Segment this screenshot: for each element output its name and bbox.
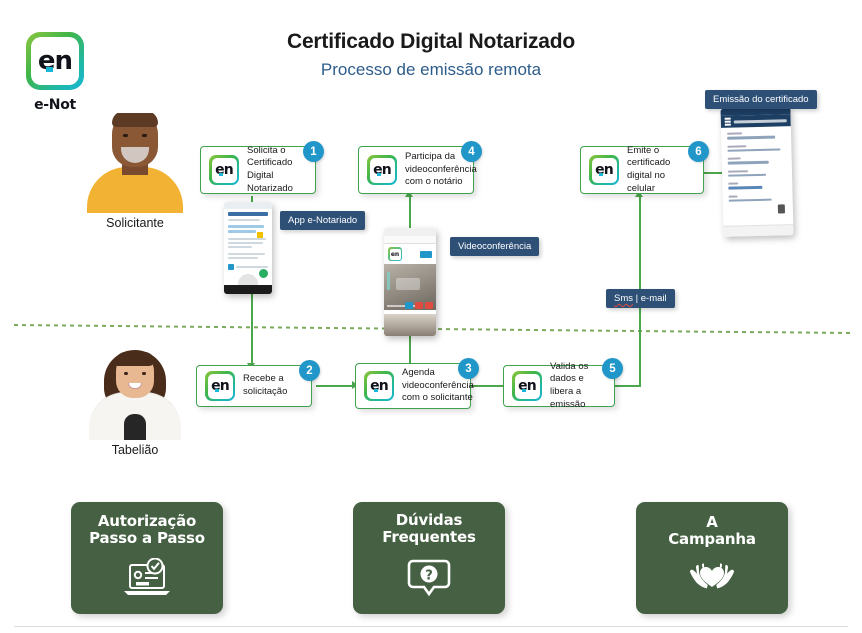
- callout-email-word: | e-mail: [633, 293, 667, 304]
- enot-logo-icon: en: [205, 371, 235, 401]
- step-badge-2: 2: [299, 360, 320, 381]
- step-5-text: Valida os dados e libera a emissão: [550, 361, 606, 411]
- enot-logo-icon: en: [364, 371, 394, 401]
- enot-logo-icon: en: [367, 155, 397, 185]
- cta-autorizacao-passo-a-passo[interactable]: Autorização Passo a Passo: [71, 502, 223, 614]
- tabeliao-photo: [87, 340, 183, 440]
- phone-mockup-app: [224, 202, 272, 294]
- infographic-canvas: en e-Not Certificado Digital Notarizado …: [0, 0, 862, 633]
- cta-duvidas-frequentes[interactable]: Dúvidas Frequentes ?: [353, 502, 505, 614]
- enot-logo-icon: en: [512, 371, 542, 401]
- step-box-6[interactable]: en Emite o certificado digital no celula…: [580, 146, 704, 194]
- page-title: Certificado Digital Notarizado: [0, 30, 862, 54]
- step-1-text: Solicita o Certificado Digital Notarizad…: [247, 145, 307, 195]
- tabeliao-label: Tabelião: [85, 443, 185, 457]
- hands-heart-icon: [683, 559, 741, 602]
- cta-autorizacao-label: Autorização Passo a Passo: [89, 513, 205, 548]
- callout-emissao-certificado: Emissão do certificado: [705, 90, 817, 109]
- actor-tabeliao: Tabelião: [85, 340, 185, 457]
- svg-text:?: ?: [425, 569, 433, 584]
- phone-mockup-certificate: [720, 107, 793, 237]
- question-bubble-icon: ?: [405, 557, 453, 604]
- step-box-5[interactable]: en Valida os dados e libera a emissão: [503, 365, 615, 407]
- phone-mockup-videoconference: en: [384, 228, 436, 336]
- callout-videoconferencia: Videoconferência: [450, 237, 539, 256]
- step-box-3[interactable]: en Agenda videoconferência com o solicit…: [355, 363, 471, 409]
- step-badge-4: 4: [461, 141, 482, 162]
- step-badge-5: 5: [602, 358, 623, 379]
- enot-logo-icon: en: [589, 155, 619, 185]
- page-subtitle: Processo de emissão remota: [0, 60, 862, 80]
- step-badge-3: 3: [458, 358, 479, 379]
- step-badge-6: 6: [688, 141, 709, 162]
- solicitante-label: Solicitante: [85, 216, 185, 230]
- step-box-4[interactable]: en Participa da videoconferência com o n…: [358, 146, 474, 194]
- actor-solicitante: Solicitante: [85, 113, 185, 230]
- callout-app-enotariado: App e-Notariado: [280, 211, 365, 230]
- step-6-text: Emite o certificado digital no celular: [627, 145, 695, 195]
- callout-sms-email: Sms | e-mail: [606, 289, 675, 308]
- arrow-step5-to-step6-h: [615, 385, 641, 387]
- arrow-step2-to-step3: [316, 385, 354, 387]
- step-box-2[interactable]: en Recebe a solicitação: [196, 365, 312, 407]
- brand-name: e-Not: [20, 97, 90, 113]
- solicitante-photo: [87, 113, 183, 213]
- callout-sms-word: Sms: [614, 293, 633, 304]
- cta-a-campanha[interactable]: A Campanha: [636, 502, 788, 614]
- laptop-check-icon: [121, 558, 173, 603]
- step-box-1[interactable]: en Solicita o Certificado Digital Notari…: [200, 146, 316, 194]
- enot-logo-icon: en: [209, 155, 239, 185]
- step-2-text: Recebe a solicitação: [243, 373, 303, 398]
- step-badge-1: 1: [303, 141, 324, 162]
- footer-divider: [14, 626, 848, 627]
- cta-duvidas-label: Dúvidas Frequentes: [382, 512, 475, 547]
- cta-campanha-label: A Campanha: [668, 514, 756, 549]
